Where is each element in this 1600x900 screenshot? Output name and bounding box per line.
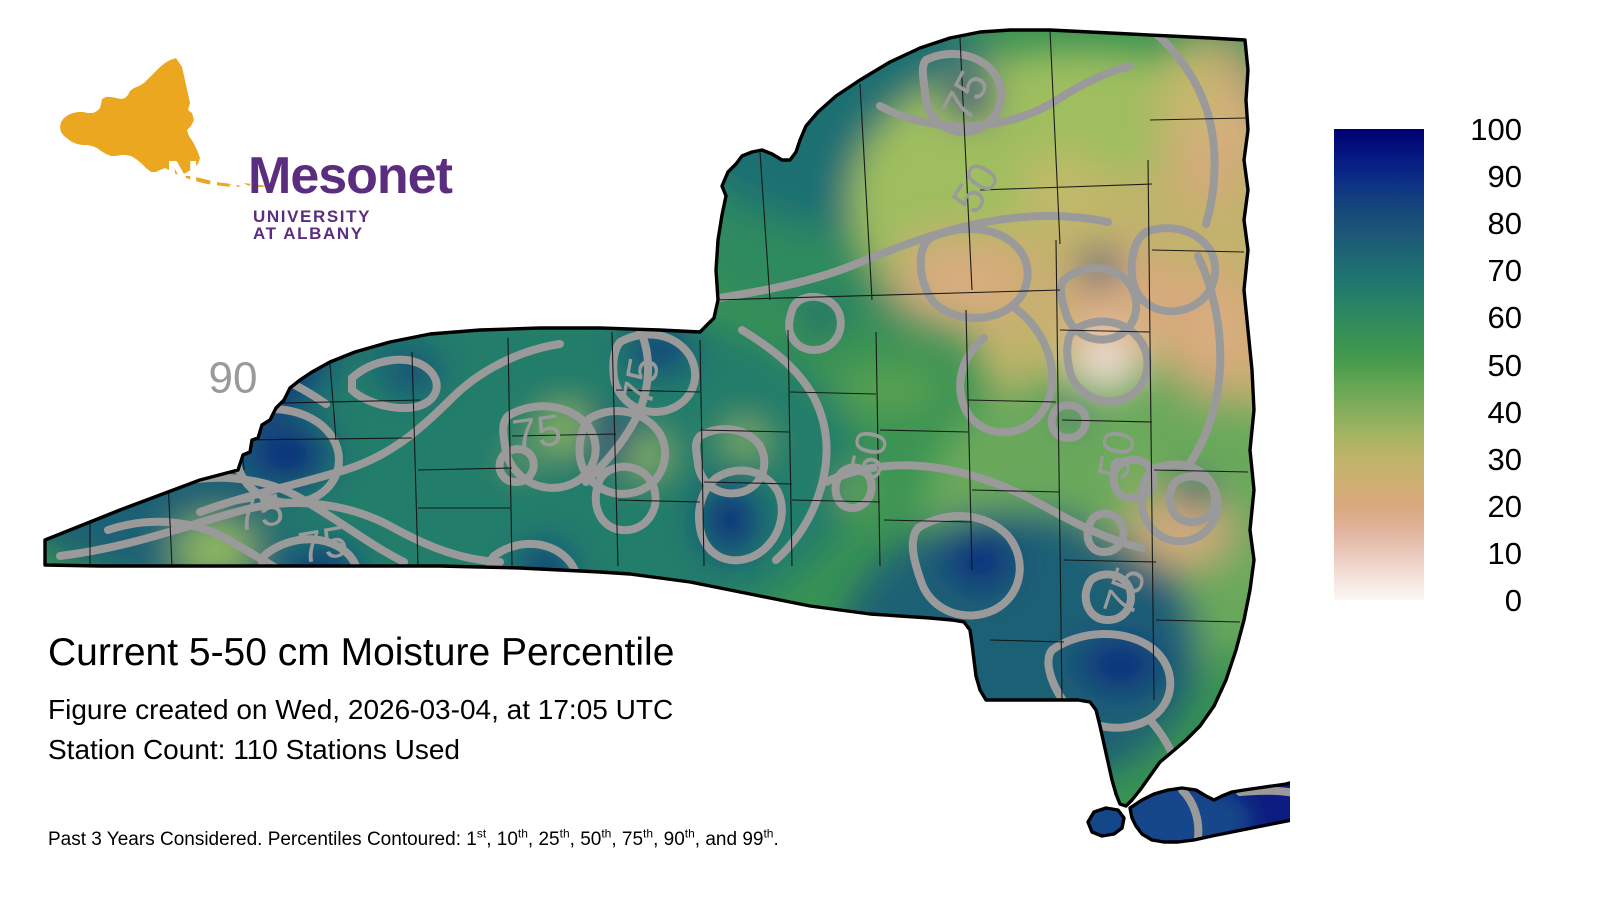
colorbar-tick-90: 90 bbox=[1434, 161, 1522, 192]
colorbar-gradient bbox=[1334, 129, 1424, 600]
colorbar-tick-30: 30 bbox=[1434, 444, 1522, 475]
figure-canvas: NYS Mesonet UNIVERSITY AT ALBANY bbox=[0, 0, 1600, 900]
contour-label-50: 50 bbox=[1089, 427, 1146, 484]
contour-label-75: 75 bbox=[613, 354, 670, 411]
colorbar-tick-10: 10 bbox=[1434, 538, 1522, 569]
contour-label-50: 50 bbox=[840, 426, 898, 484]
percentile-level-25: 25th bbox=[538, 829, 569, 850]
percentile-level-50: 50th bbox=[580, 829, 611, 850]
figure-footnote: Past 3 Years Considered. Percentiles Con… bbox=[48, 828, 779, 852]
colorbar-tick-60: 60 bbox=[1434, 302, 1522, 333]
figure-station-count: Station Count: 110 Stations Used bbox=[48, 730, 1048, 770]
figure-title: Current 5-50 cm Moisture Percentile bbox=[48, 630, 1048, 676]
colorbar-tick-50: 50 bbox=[1434, 350, 1522, 381]
colorbar-tick-80: 80 bbox=[1434, 208, 1522, 239]
percentile-level-1: 1st bbox=[466, 829, 486, 850]
contour-label-75: 75 bbox=[231, 485, 288, 542]
colorbar-tick-100: 100 bbox=[1434, 114, 1522, 145]
colorbar-tick-0: 0 bbox=[1434, 585, 1522, 616]
figure-created-timestamp: Figure created on Wed, 2026-03-04, at 17… bbox=[48, 690, 1048, 730]
percentile-level-75: 75th bbox=[622, 829, 653, 850]
colorbar-tick-20: 20 bbox=[1434, 491, 1522, 522]
caption-block: Current 5-50 cm Moisture Percentile Figu… bbox=[48, 630, 1048, 770]
colorbar-tick-40: 40 bbox=[1434, 397, 1522, 428]
contour-label-75: 75 bbox=[509, 405, 564, 460]
percentile-level-90: 90th bbox=[664, 829, 695, 850]
contour-label-90: 90 bbox=[209, 354, 258, 403]
colorbar-tick-70: 70 bbox=[1434, 255, 1522, 286]
percentile-level-10: 10th bbox=[497, 829, 528, 850]
colorbar bbox=[1334, 129, 1424, 600]
percentile-level-99: 99th bbox=[742, 829, 773, 850]
contour-label-75: 75 bbox=[295, 517, 352, 574]
colorbar-tick-labels: 1009080706050403020100 bbox=[1434, 108, 1554, 628]
